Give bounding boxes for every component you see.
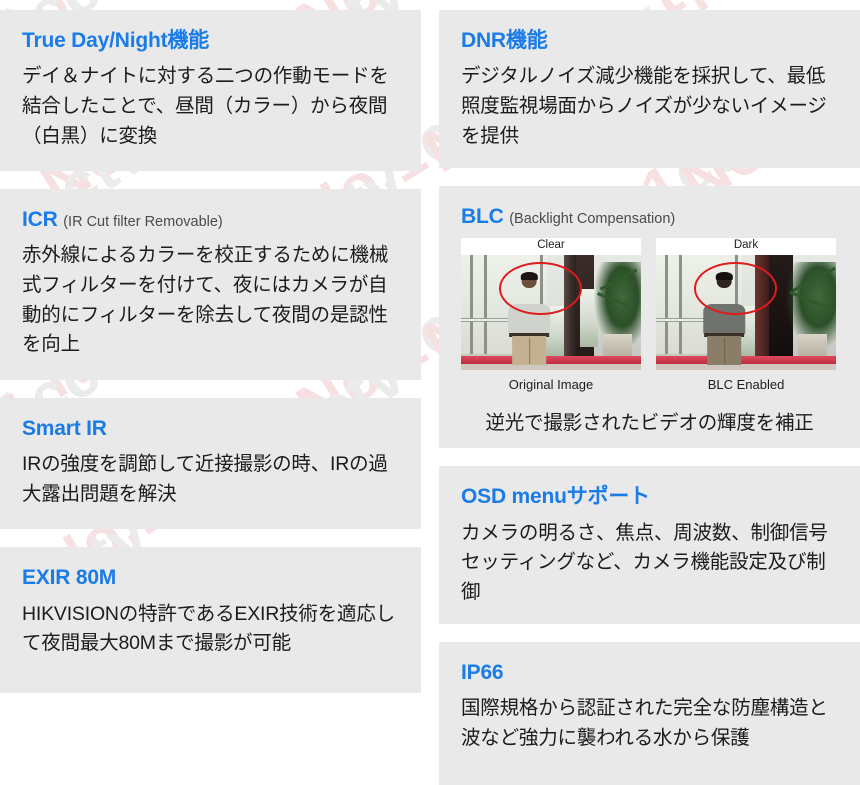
blc-original-item: Clear (461, 238, 641, 392)
feature-card-smart-ir: Smart IR IRの強度を調節して近接撮影の時、IRの過大露出問題を解決 (0, 398, 421, 530)
card-title-text: BLC (461, 205, 504, 228)
blc-original-top-label: Clear (461, 239, 641, 251)
right-column: DNR機能 デジタルノイズ減少機能を採択して、最低照度監視場面からノイズが少ない… (439, 10, 860, 785)
feature-card-true-day-night: True Day/Night機能 デイ＆ナイトに対する二つの作動モードを結合した… (0, 10, 421, 171)
blc-original-frame: Clear (461, 238, 641, 370)
card-body-smart-ir: IRの強度を調節して近接撮影の時、IRの過大露出問題を解決 (22, 450, 399, 509)
feature-columns: True Day/Night機能 デイ＆ナイトに対する二つの作動モードを結合した… (0, 0, 860, 785)
card-title-blc: BLC (Backlight Compensation) (461, 204, 838, 230)
feature-card-blc: BLC (Backlight Compensation) Clear (439, 186, 860, 449)
card-title-text: True Day/Night機能 (22, 29, 209, 52)
card-subtitle-text: (IR Cut filter Removable) (63, 214, 223, 230)
card-title-osd-menu: OSD menuサポート (461, 484, 838, 510)
blc-original-photo (461, 255, 641, 370)
card-title-exir-80m: EXIR 80M (22, 565, 399, 591)
card-body-blc: 逆光で撮影されたビデオの輝度を補正 (461, 406, 838, 435)
card-title-text: EXIR 80M (22, 566, 116, 589)
blc-enabled-frame: Dark (656, 238, 836, 370)
card-title-icr: ICR (IR Cut filter Removable) (22, 207, 399, 233)
blc-highlight-circle-icon (499, 262, 582, 315)
card-title-smart-ir: Smart IR (22, 416, 399, 442)
card-body-dnr: デジタルノイズ減少機能を採択して、最低照度監視場面からノイズが少ないイメージを提… (461, 62, 838, 151)
card-subtitle-text: (Backlight Compensation) (509, 211, 675, 227)
feature-spec-page: No.1cctv No.1cctv No.1cctv No.1cctv No.1… (0, 0, 860, 785)
card-title-text: OSD menuサポート (461, 485, 650, 508)
card-title-dnr: DNR機能 (461, 28, 838, 54)
card-title-text: DNR機能 (461, 29, 548, 52)
card-title-text: IP66 (461, 661, 503, 684)
blc-enabled-item: Dark (656, 238, 836, 392)
blc-comparison: Clear (461, 238, 838, 392)
card-title-true-day-night: True Day/Night機能 (22, 28, 399, 54)
feature-card-icr: ICR (IR Cut filter Removable) 赤外線によるカラーを… (0, 189, 421, 380)
feature-card-osd-menu: OSD menuサポート カメラの明るさ、焦点、周波数、制御信号セッティングなど… (439, 466, 860, 624)
blc-enabled-top-label: Dark (656, 239, 836, 251)
feature-card-ip66: IP66 国際規格から認証された完全な防塵構造と波など強力に襲われる水から保護 (439, 642, 860, 785)
left-column: True Day/Night機能 デイ＆ナイトに対する二つの作動モードを結合した… (0, 10, 421, 785)
feature-card-exir-80m: EXIR 80M HIKVISIONの特許であるEXIR技術を適応して夜間最大8… (0, 547, 421, 693)
blc-original-bottom-label: Original Image (461, 377, 641, 392)
card-title-text: Smart IR (22, 417, 107, 440)
card-body-true-day-night: デイ＆ナイトに対する二つの作動モードを結合したことで、昼間（カラー）から夜間（白… (22, 62, 399, 151)
card-title-text: ICR (22, 208, 58, 231)
card-body-exir-80m: HIKVISIONの特許であるEXIR技術を適応して夜間最大80Mまで撮影が可能 (22, 600, 399, 659)
card-title-ip66: IP66 (461, 660, 838, 686)
card-body-ip66: 国際規格から認証された完全な防塵構造と波など強力に襲われる水から保護 (461, 694, 838, 753)
blc-enabled-photo (656, 255, 836, 370)
card-body-icr: 赤外線によるカラーを校正するために機械式フィルターを付けて、夜にはカメラが自動的… (22, 241, 399, 360)
blc-highlight-circle-icon (694, 262, 777, 315)
card-body-osd-menu: カメラの明るさ、焦点、周波数、制御信号セッティングなど、カメラ機能設定及び制御 (461, 519, 838, 608)
blc-enabled-bottom-label: BLC Enabled (656, 377, 836, 392)
feature-card-dnr: DNR機能 デジタルノイズ減少機能を採択して、最低照度監視場面からノイズが少ない… (439, 10, 860, 168)
